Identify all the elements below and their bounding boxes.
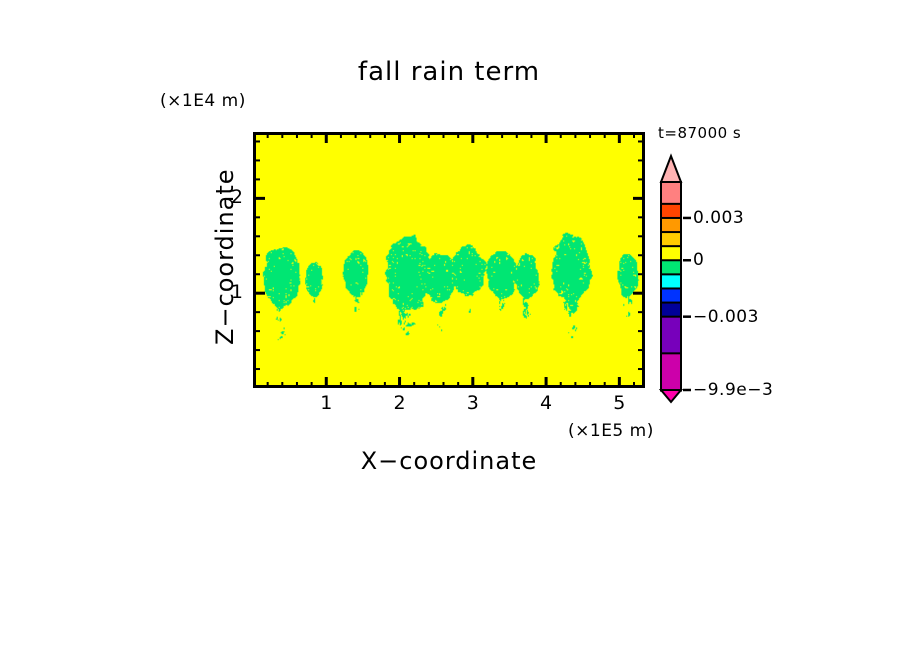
colorbar-band-cyan bbox=[661, 274, 681, 289]
colorbar-band-orange-red bbox=[661, 204, 681, 219]
colorbar bbox=[661, 168, 681, 400]
colorbar-band-salmon bbox=[661, 182, 681, 204]
colorbar-tick-label: 0 bbox=[693, 250, 704, 270]
colorbar-tick-label: −9.9e−3 bbox=[693, 380, 773, 400]
colorbar-top-arrow bbox=[661, 156, 681, 182]
page-title: fall rain term bbox=[253, 57, 645, 87]
colorbar-tick-label: −0.003 bbox=[693, 307, 759, 327]
colorbar-band-magenta bbox=[661, 353, 681, 390]
colorbar-bottom-arrow bbox=[661, 390, 681, 402]
colorbar-band-blue bbox=[661, 288, 681, 303]
y-tick-label: 2 bbox=[225, 186, 243, 208]
x-axis-unit-label: (×1E5 m) bbox=[568, 421, 654, 441]
colorbar-band-yellow bbox=[661, 246, 681, 261]
colorbar-band-amber bbox=[661, 232, 681, 247]
x-tick-label: 4 bbox=[533, 392, 559, 414]
colorbar-swatches bbox=[655, 168, 687, 400]
time-annotation: t=87000 s bbox=[658, 124, 741, 142]
x-tick-label: 1 bbox=[313, 392, 339, 414]
colorbar-band-purple bbox=[661, 317, 681, 354]
x-tick-label: 2 bbox=[387, 392, 413, 414]
x-tick-label: 5 bbox=[606, 392, 632, 414]
colorbar-tick-label: 0.003 bbox=[693, 208, 744, 228]
y-axis-unit-label: (×1E4 m) bbox=[160, 91, 246, 111]
x-axis-title: X−coordinate bbox=[253, 447, 645, 475]
heatmap-canvas bbox=[256, 135, 642, 385]
plot-area bbox=[253, 132, 645, 388]
colorbar-band-orange bbox=[661, 218, 681, 233]
figure-root: fall rain term (×1E4 m) t=87000 s (×1E5 … bbox=[0, 0, 904, 654]
x-tick-label: 3 bbox=[460, 392, 486, 414]
colorbar-band-green bbox=[661, 260, 681, 275]
y-tick-label: 1 bbox=[225, 281, 243, 303]
colorbar-band-navy bbox=[661, 303, 681, 318]
